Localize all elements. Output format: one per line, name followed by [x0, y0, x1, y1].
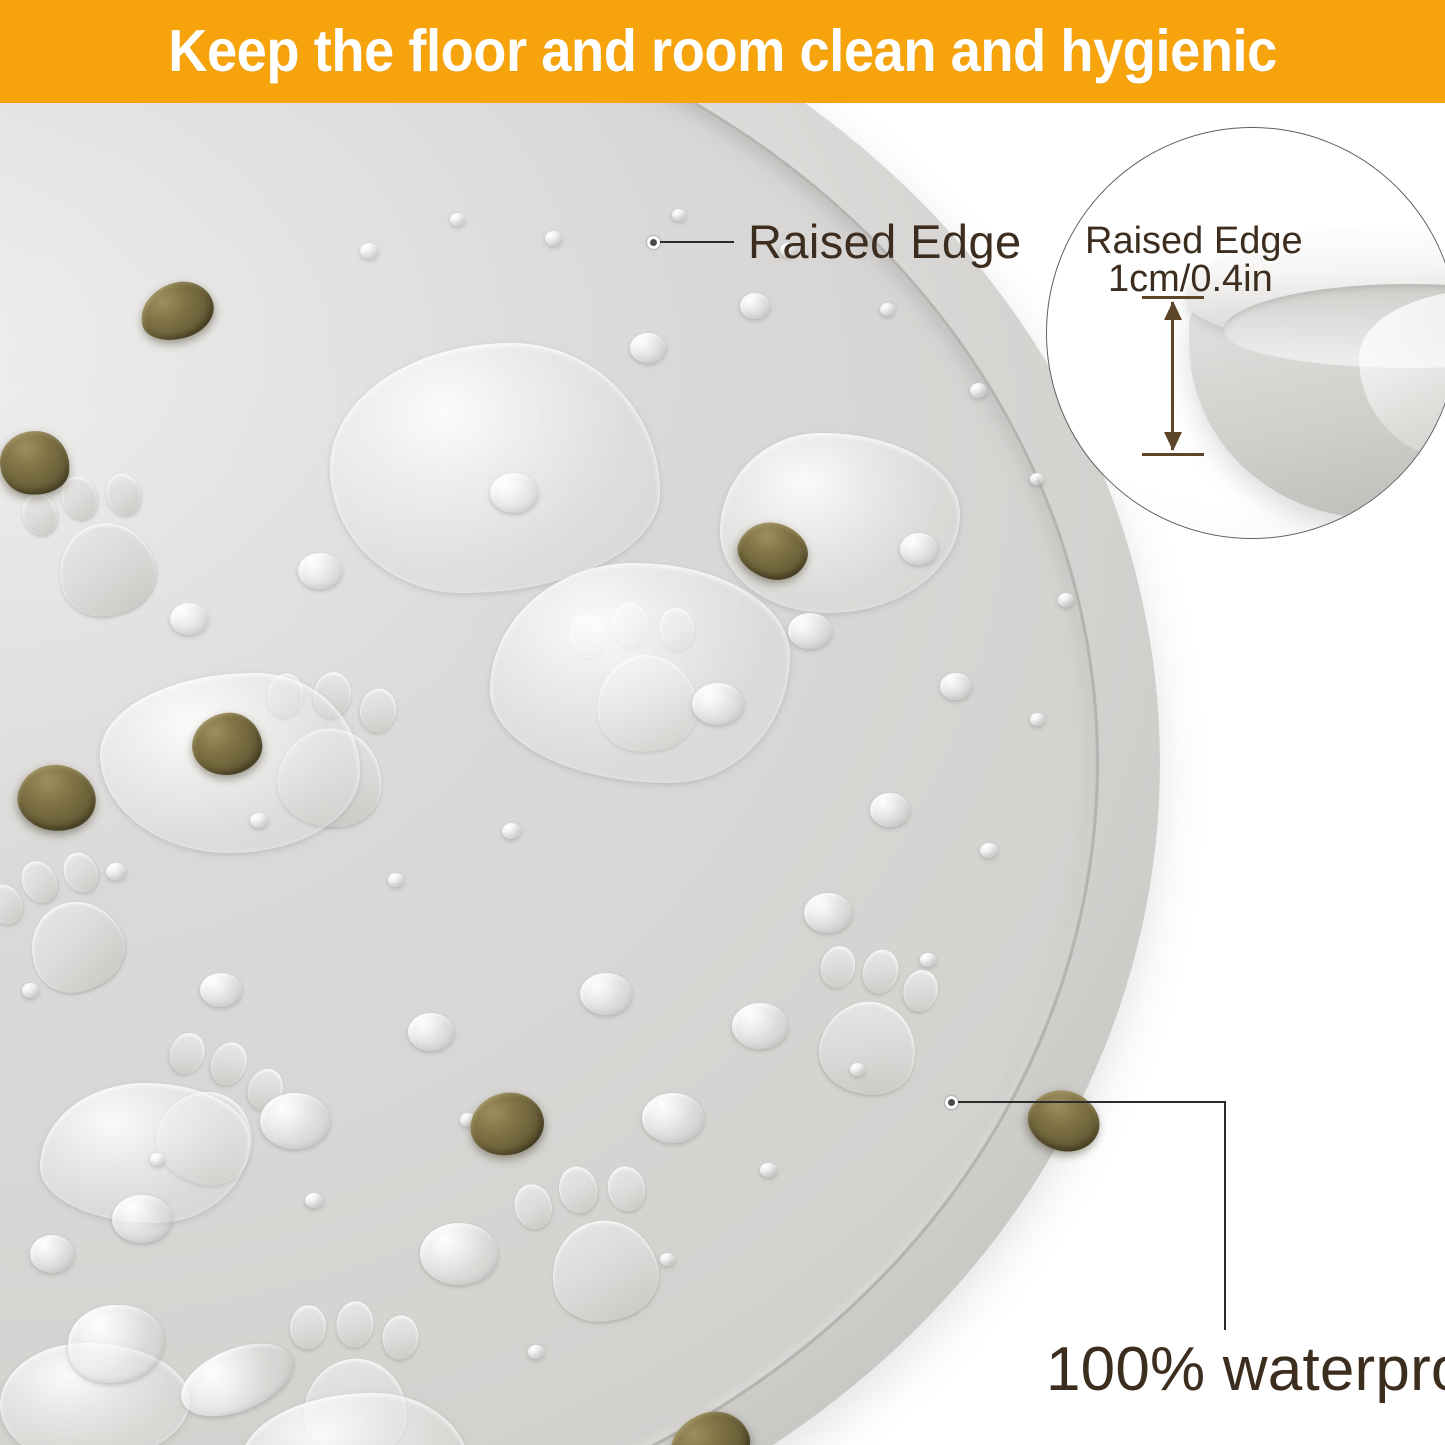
inset-measurement: 1cm/0.4in — [1108, 259, 1273, 301]
dimension-shaft — [1171, 302, 1174, 450]
waterproof-leader-line-vertical — [1224, 1101, 1226, 1330]
raised-edge-magnifier-inset — [1046, 127, 1445, 539]
product-marketing-image: Keep the floor and room clean and hygien… — [0, 0, 1445, 1445]
dimension-arrow — [1142, 296, 1212, 456]
raised-edge-callout-label: Raised Edge — [748, 214, 1022, 269]
banner-headline: Keep the floor and room clean and hygien… — [168, 22, 1277, 81]
product-photo: Raised Edge 100% waterproof Raised Edge … — [0, 103, 1445, 1445]
waterproof-callout-label: 100% waterproof — [1046, 1334, 1445, 1405]
dimension-arrowhead-down — [1164, 432, 1182, 451]
pet-food-tray — [0, 103, 1160, 1445]
header-banner: Keep the floor and room clean and hygien… — [0, 0, 1445, 103]
inset-title: Raised Edge — [1085, 221, 1303, 263]
dimension-arrowhead-up — [1164, 301, 1182, 320]
dimension-tick-bottom — [1142, 453, 1204, 456]
dimension-tick-top — [1142, 296, 1204, 299]
